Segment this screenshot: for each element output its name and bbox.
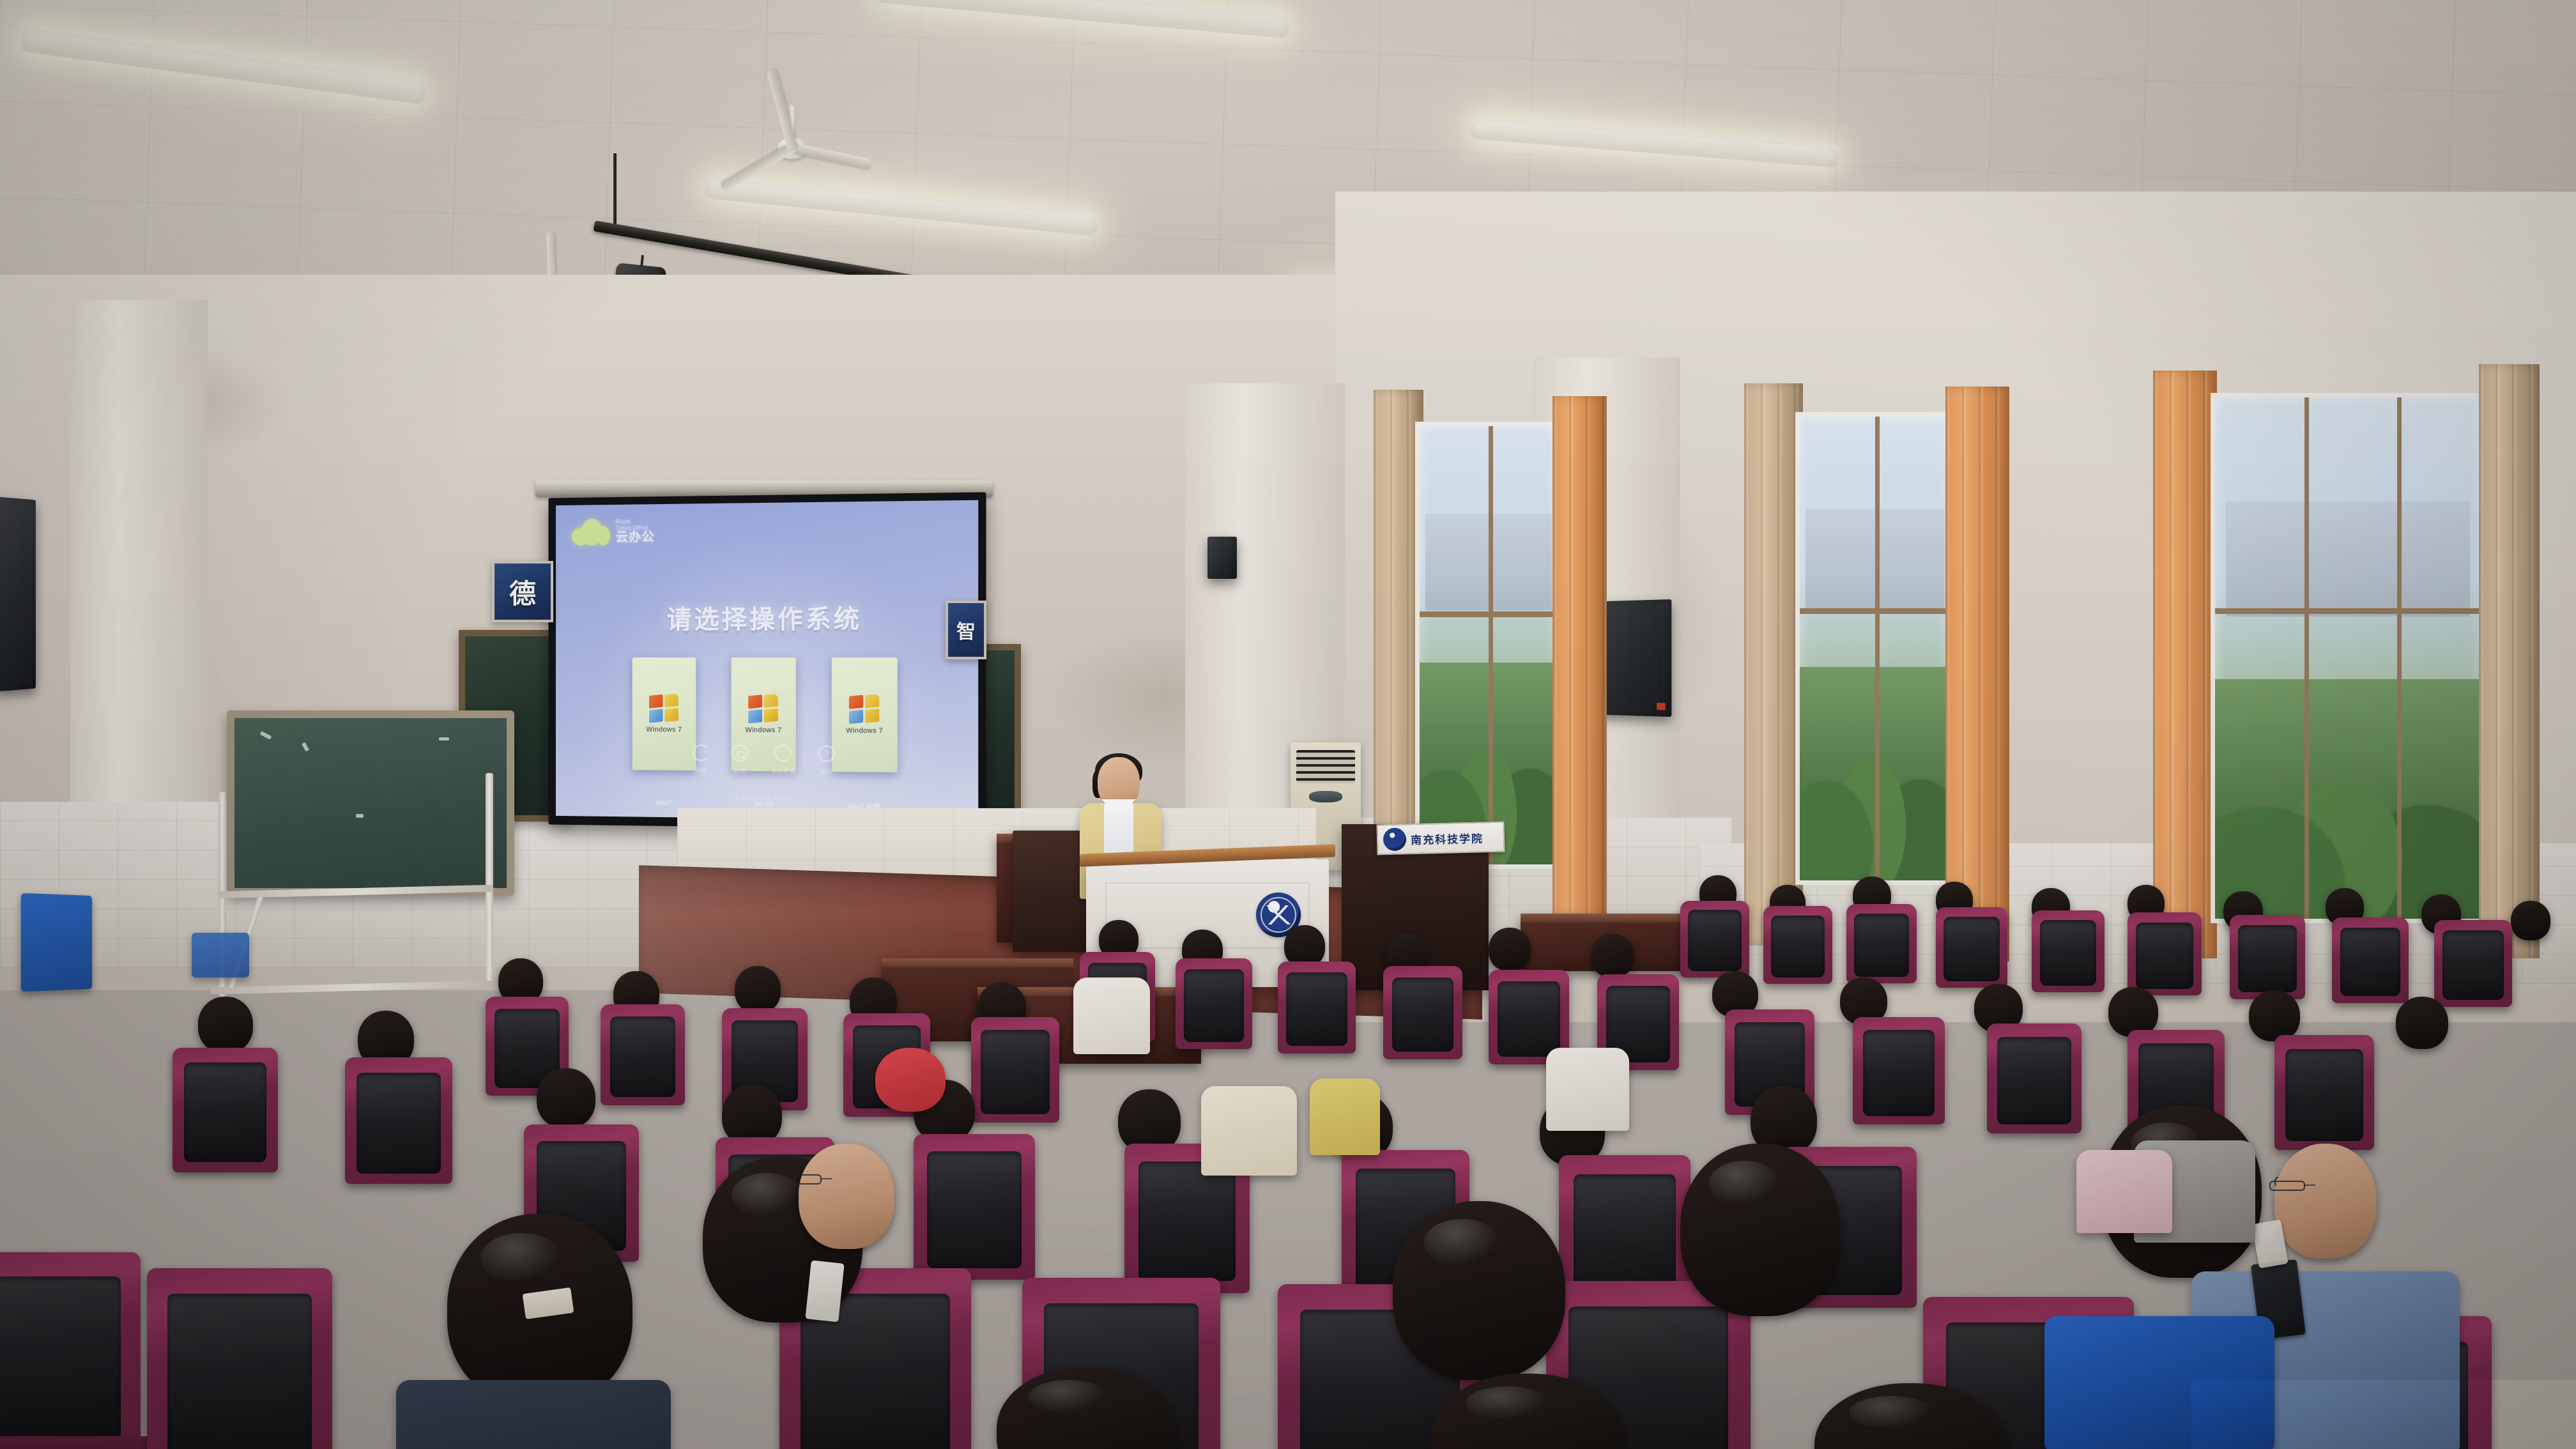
- os-options-row: Windows 7 Win7 Windows 7 Win10: [556, 657, 978, 813]
- chalk-mark: [439, 737, 449, 740]
- speaker-brand-badge: [1657, 703, 1665, 710]
- wall-plaque-wisdom: 智: [946, 601, 986, 659]
- projected-image: Ruijie Cloud Office 云办公 请选择操作系统 Windows …: [556, 500, 978, 821]
- truss-hanger: [613, 153, 617, 227]
- smartphone[interactable]: [805, 1261, 844, 1322]
- audience-head: [537, 1068, 595, 1128]
- auditorium-seat[interactable]: [1846, 904, 1917, 983]
- chalkboard-stand-leg: [486, 773, 493, 984]
- logo-english-bottom: Cloud Office: [616, 525, 655, 531]
- outside-building: [2226, 502, 2471, 617]
- window-curtain: [1552, 396, 1607, 933]
- lecture-hall-photo: Ruijie Cloud Office 云办公 请选择操作系统 Windows …: [0, 0, 2576, 1449]
- os-tile-label: Windows 7: [746, 726, 782, 734]
- auditorium-seat[interactable]: [2127, 912, 2202, 995]
- window-mullion: [2304, 397, 2309, 919]
- auditorium-seat[interactable]: [2434, 920, 2512, 1007]
- window-mullion: [2397, 397, 2402, 919]
- outside-trees: [2215, 679, 2481, 919]
- cloud-logo-icon: [572, 519, 611, 546]
- fan-blade: [720, 142, 797, 192]
- help-icon: [818, 746, 835, 762]
- window-curtain: [2479, 364, 2540, 958]
- auditorium-seat[interactable]: [2274, 1035, 2374, 1150]
- window: [1795, 412, 1955, 885]
- audience-head: [198, 997, 253, 1053]
- os-picker-title: 请选择操作系统: [556, 597, 978, 636]
- eyeglasses: [2269, 1181, 2305, 1191]
- auditorium-seat[interactable]: [914, 1134, 1035, 1280]
- toolbar-help[interactable]: 帮助: [818, 746, 835, 777]
- auditorium-seat[interactable]: [2332, 917, 2409, 1003]
- window-curtain: [1744, 383, 1803, 946]
- ac-display: [1309, 791, 1343, 802]
- school-emblem-icon: [1383, 827, 1407, 851]
- audience-torso-pink: [2076, 1150, 2172, 1233]
- window: [2211, 393, 2485, 923]
- audience-head: [2249, 990, 2300, 1041]
- audience-head: [1489, 928, 1531, 971]
- os-tile-label: Windows 7: [646, 726, 682, 733]
- speaker-grill: [1211, 540, 1233, 575]
- audience-torso-yellow: [1310, 1078, 1380, 1155]
- school-name-sign: 南充科技学院: [1376, 822, 1505, 855]
- logo-chinese: 云办公: [616, 531, 655, 544]
- projection-screen[interactable]: Ruijie Cloud Office 云办公 请选择操作系统 Windows …: [548, 492, 986, 830]
- chalk-mark: [356, 814, 364, 818]
- speaker-grill: [0, 501, 33, 687]
- toolbar-refresh[interactable]: 刷新: [693, 744, 709, 776]
- auditorium-seat[interactable]: [1680, 901, 1749, 977]
- auditorium-seat[interactable]: [601, 1004, 685, 1105]
- audience-torso: [396, 1380, 671, 1449]
- school-name-text: 南充科技学院: [1411, 829, 1484, 847]
- toolbar-repair[interactable]: 系统修复: [771, 745, 795, 776]
- windows-flag-icon: [649, 693, 679, 723]
- gear-icon: [732, 745, 748, 762]
- audience-head: [2396, 997, 2448, 1049]
- refresh-icon: [693, 744, 709, 761]
- audience-torso-white: [1073, 977, 1150, 1054]
- audience-torso-white: [1546, 1048, 1629, 1131]
- screen-toolbar: 刷新 设置 系统修复 帮助: [556, 744, 978, 778]
- folding-chair: [192, 933, 249, 977]
- chalk-mark: [260, 731, 272, 740]
- toolbar-repair-label: 系统修复: [771, 768, 795, 774]
- windows-flag-icon: [748, 693, 779, 724]
- auditorium-seat[interactable]: [0, 1252, 141, 1449]
- auditorium-seat[interactable]: [1936, 907, 2007, 988]
- auditorium-seat[interactable]: [1176, 958, 1252, 1049]
- auditorium-seat[interactable]: [2032, 910, 2104, 992]
- blue-jacket: [2044, 1316, 2274, 1449]
- audience-head-foreground: [1393, 1201, 1565, 1380]
- rolling-chalkboard: [227, 710, 514, 896]
- window-curtain: [2153, 371, 2217, 958]
- auditorium-seat[interactable]: [1278, 962, 1356, 1054]
- window-curtain: [1945, 387, 2009, 962]
- audience-head-foreground: [1680, 1144, 1840, 1316]
- window-mullion: [1800, 608, 1951, 614]
- audience-head: [735, 966, 781, 1013]
- window-mullion: [2215, 608, 2481, 614]
- chalk-mark: [302, 742, 309, 751]
- auditorium-seat[interactable]: [1987, 1023, 2081, 1133]
- audience-head-red-hair: [875, 1048, 946, 1112]
- os-option[interactable]: Windows 7 Win7 配置: [832, 657, 898, 813]
- auditorium-seat[interactable]: [345, 1057, 452, 1184]
- auditorium-seat[interactable]: [1763, 906, 1832, 984]
- auditorium-seat[interactable]: [172, 1048, 278, 1172]
- audience-head-profile: [2274, 1144, 2377, 1259]
- wall-plaque-virtue: 德: [492, 561, 553, 622]
- os-option[interactable]: Windows 7 Win7: [632, 657, 696, 810]
- window-mullion: [1489, 426, 1493, 864]
- wall-speaker: [0, 496, 36, 691]
- folding-chair: [21, 893, 92, 992]
- os-option[interactable]: Windows 7 Win10: [732, 657, 796, 811]
- cloud-office-logo: Ruijie Cloud Office 云办公: [572, 518, 655, 546]
- auditorium-seat[interactable]: [1853, 1017, 1945, 1124]
- auditorium-seat[interactable]: [971, 1017, 1059, 1123]
- os-tile-label: Windows 7: [846, 727, 883, 735]
- shield-icon: [775, 745, 792, 762]
- stage-monitor-speaker: [1207, 537, 1237, 579]
- window: [1415, 422, 1562, 869]
- auditorium-seat[interactable]: [2230, 915, 2305, 999]
- ac-vents: [1296, 750, 1355, 783]
- toolbar-settings-label: 设置: [734, 768, 746, 774]
- auditorium-seat[interactable]: [1383, 966, 1462, 1059]
- windows-flag-icon: [849, 693, 880, 724]
- toolbar-refresh-label: 刷新: [695, 767, 707, 774]
- audience-head: [2511, 901, 2550, 940]
- toolbar-help-label: 帮助: [820, 769, 832, 775]
- toolbar-settings[interactable]: 设置: [732, 745, 748, 776]
- eyeglasses: [793, 1174, 822, 1184]
- window-mullion: [1875, 417, 1880, 880]
- audience-head-profile: [799, 1144, 894, 1249]
- table-top-edge: [882, 958, 1073, 967]
- audience-head: [1591, 934, 1634, 977]
- audience-torso-cream: [1201, 1086, 1297, 1176]
- auditorium-seat[interactable]: [147, 1268, 332, 1449]
- window-mullion: [1420, 611, 1558, 617]
- ceiling-fan: [696, 105, 888, 195]
- dark-lectern: [1013, 831, 1089, 952]
